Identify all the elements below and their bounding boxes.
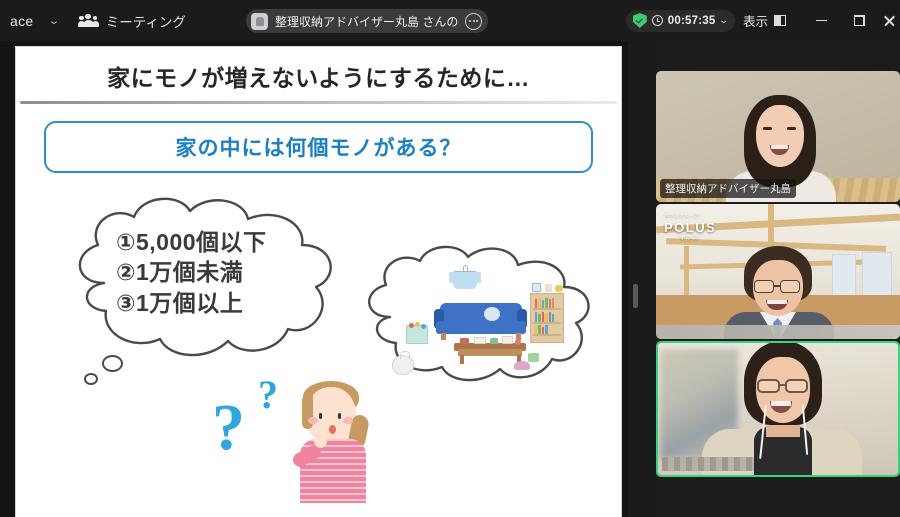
coffee-table-leg-left: [460, 355, 464, 364]
options-list: ①5,000個以下 ②1万個未満 ③1万個以上: [116, 227, 267, 318]
video-tile-participant-2[interactable]: ポラスグループ POLUS ポラス: [656, 204, 900, 339]
floor-item-pink: [514, 361, 530, 370]
presenter-avatar-icon: [251, 13, 268, 30]
polus-watermark-top: ポラスグループ: [664, 213, 716, 219]
sofa-leg-left: [441, 333, 446, 340]
hanger-icon: [450, 265, 480, 291]
participant-3-glasses-left: [757, 379, 780, 393]
thinking-woman-illustration: ? ?: [274, 373, 389, 503]
participant-2-glasses-bridge: [774, 285, 781, 287]
living-room-illustration: [418, 281, 558, 366]
character-cheek-left: [308, 417, 318, 424]
thought-tail-bubble-small: [84, 373, 98, 385]
window-1: [832, 254, 856, 298]
polus-watermark: ポラスグループ POLUS ポラス: [664, 213, 716, 241]
title-bar: ace ⌄ ミーティング 整理収納アドバイザー丸島 さんの 00:57:35 ⌄: [0, 0, 900, 41]
character-cheek-right: [343, 417, 353, 424]
layout-view-icon: [774, 15, 786, 26]
shelf-top-clock: [532, 283, 541, 292]
polus-watermark-main: POLUS: [664, 220, 716, 235]
shelf-top-box: [545, 284, 552, 292]
shared-screen-stage: 家にモノが増えないようにするために… 家の中には何個モノがある？ ①5,000個…: [0, 41, 630, 517]
clock-icon: [652, 15, 663, 26]
presenter-pill[interactable]: 整理収納アドバイザー丸島 さんの: [246, 9, 488, 33]
encryption-shield-icon: [633, 13, 647, 28]
participant-3-glasses-right: [785, 379, 808, 393]
question-text: 家の中には何個モノがある？: [176, 132, 462, 162]
character-eye-right: [338, 413, 341, 419]
title-bar-left: ace ⌄ ミーティング: [0, 11, 186, 31]
table-clutter-2: [490, 338, 498, 344]
question-box: 家の中には何個モノがある？: [44, 121, 593, 173]
question-mark-large: ?: [212, 395, 245, 461]
table-clutter-4: [515, 339, 521, 345]
timer-value: 00:57:35: [668, 15, 716, 27]
thought-tail-bubble-large: [102, 355, 123, 372]
presentation-slide[interactable]: 家にモノが増えないようにするために… 家の中には何個モノがある？ ①5,000個…: [16, 47, 621, 517]
table-clutter-paper: [474, 337, 486, 344]
window-2: [862, 252, 892, 300]
restore-window-icon: [854, 15, 865, 26]
participant-1-eye-right: [787, 127, 796, 130]
close-window-icon: [884, 15, 895, 26]
shopping-bag: [392, 355, 414, 375]
table-clutter-3: [502, 336, 513, 344]
option-2: ②1万個未満: [116, 257, 267, 287]
title-divider: [20, 101, 617, 104]
people-icon: [79, 14, 98, 28]
chevron-down-icon[interactable]: ⌄: [27, 14, 80, 27]
close-button[interactable]: [878, 0, 900, 41]
participant-2-teeth: [767, 300, 787, 304]
video-tile-active-speaker[interactable]: [656, 341, 900, 477]
participant-video-column: 整理収納アドバイザー丸島 ポラスグループ POLUS: [656, 41, 900, 517]
meeting-window: ace ⌄ ミーティング 整理収納アドバイザー丸島 さんの 00:57:35 ⌄: [0, 0, 900, 517]
minimize-icon: [816, 20, 827, 22]
participant-1-eye-left: [763, 127, 772, 130]
polus-watermark-bottom: ポラス: [664, 235, 716, 241]
participant-1-face: [756, 105, 804, 167]
shelf-top-toy: [555, 285, 563, 292]
participant-2-glasses-left: [754, 280, 774, 293]
character-mouth: [329, 425, 336, 434]
bookshelf: [530, 293, 564, 343]
option-3: ③1万個以上: [116, 288, 267, 318]
participant-1-teeth: [771, 145, 788, 149]
chevron-down-icon[interactable]: ⌄: [719, 15, 730, 26]
option-1: ①5,000個以下: [116, 227, 267, 257]
presenter-pill-label: 整理収納アドバイザー丸島 さんの: [275, 13, 458, 30]
blurred-name-bar-2: [656, 325, 900, 339]
slide-body: ①5,000個以下 ②1万個未満 ③1万個以上: [16, 173, 621, 517]
character-eye-left: [319, 413, 322, 419]
wall-post-left: [684, 246, 689, 298]
sofa-seat: [436, 321, 526, 334]
question-mark-small: ?: [258, 375, 278, 415]
coffee-table-body: [458, 349, 522, 356]
panel-resize-handle[interactable]: [633, 284, 638, 308]
title-bar-right: 00:57:35 ⌄ 表示: [626, 0, 900, 41]
table-clutter-1: [460, 338, 469, 344]
page-title: 家にモノが増えないようにするために…: [16, 59, 621, 93]
participant-2-glasses-right: [780, 280, 800, 293]
minimize-button[interactable]: [802, 0, 840, 41]
participant-3-teeth: [771, 401, 791, 406]
participant-name-label: 整理収納アドバイザー丸島: [660, 179, 796, 198]
participant-3-glasses-bridge: [779, 384, 786, 386]
restore-button[interactable]: [840, 0, 878, 41]
floor-item-green: [528, 353, 539, 362]
options-thought-cloud: ①5,000個以下 ②1万個未満 ③1万個以上: [62, 191, 372, 366]
video-tile-presenter[interactable]: 整理収納アドバイザー丸島: [656, 71, 900, 202]
panel-divider: [628, 41, 654, 517]
meeting-tab[interactable]: ミーティング: [79, 11, 186, 31]
view-layout-button[interactable]: 表示: [743, 11, 786, 30]
more-options-icon[interactable]: [465, 13, 482, 30]
blurred-name-bar-3: [662, 457, 754, 471]
meeting-timer[interactable]: 00:57:35 ⌄: [626, 10, 735, 32]
sofa-cushion: [484, 307, 500, 321]
storage-basket: [406, 325, 428, 344]
view-label: 表示: [743, 11, 768, 30]
meeting-tab-label: ミーティング: [106, 11, 186, 31]
